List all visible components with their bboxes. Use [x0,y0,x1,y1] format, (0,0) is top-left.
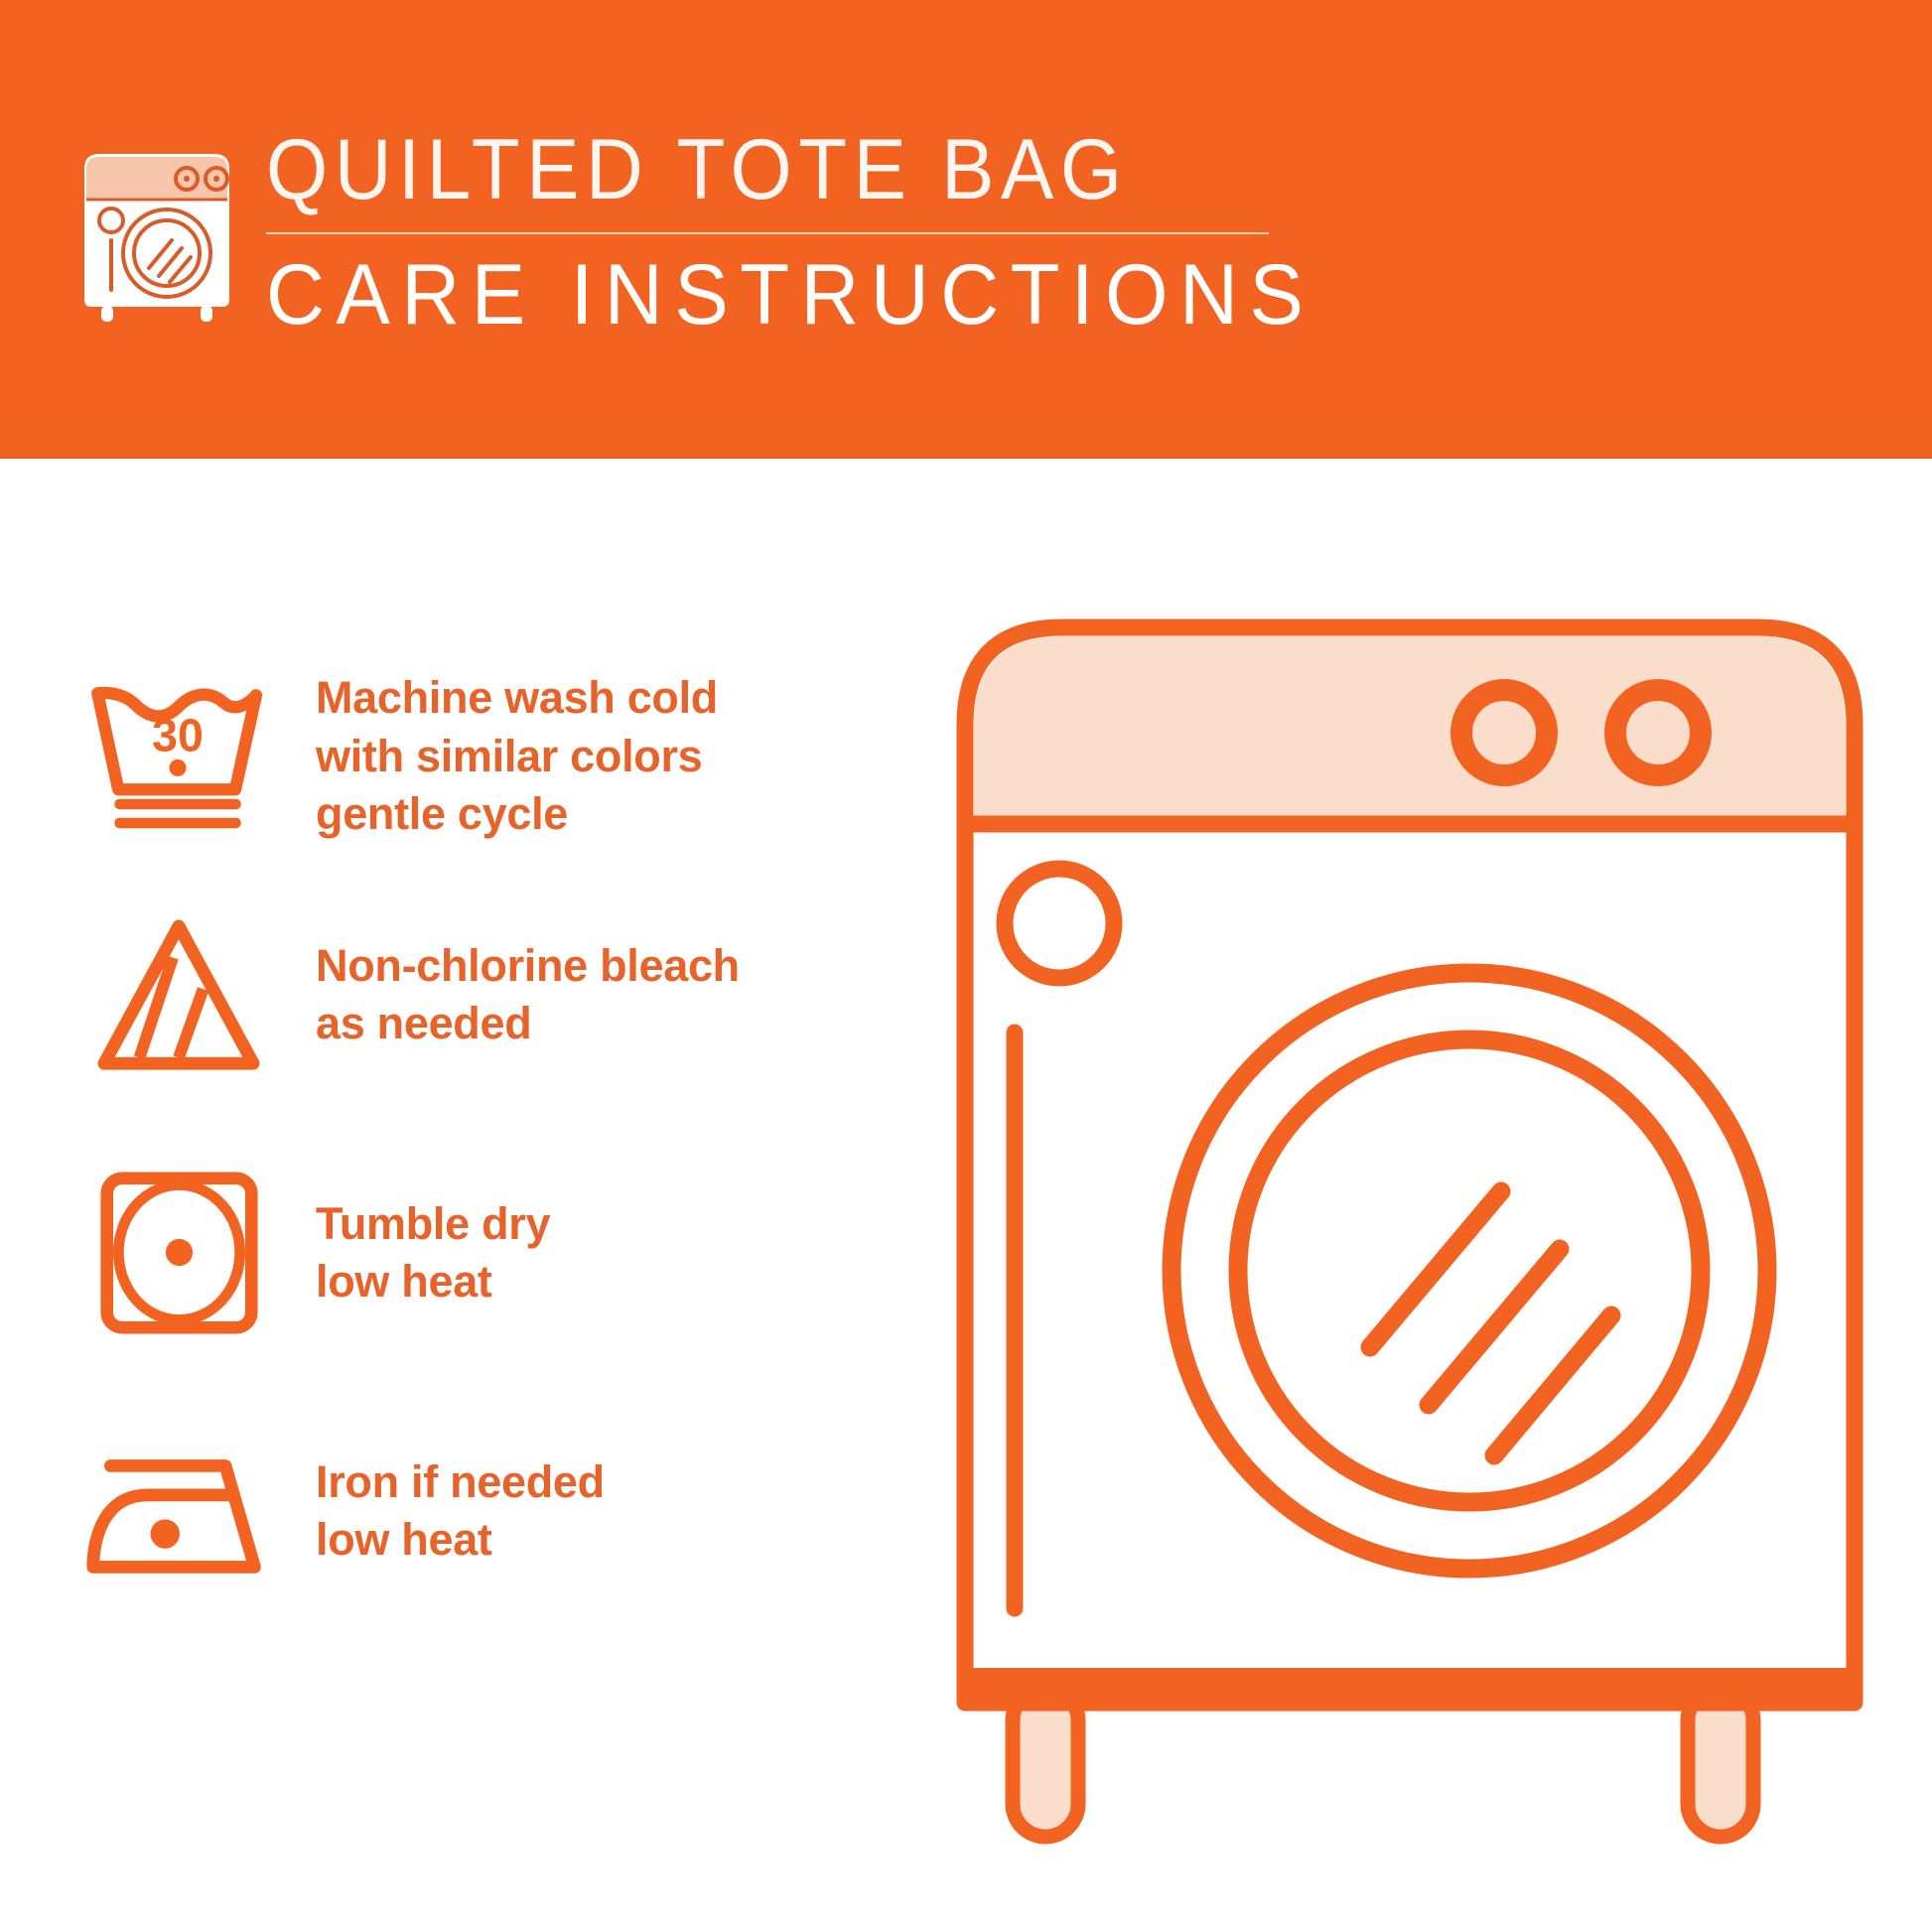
iron-low-heat-icon [79,1412,278,1610]
care-item-bleach: Non-chlorine bleach as needed [79,896,933,1094]
care-item-label: Iron if needed low heat [316,1453,605,1570]
care-item-machine-wash: 30 Machine wash cold with similar colors… [79,657,933,856]
page-title: QUILTED TOTE BAG [266,127,1245,212]
care-item-label: Tumble dry low heat [316,1195,550,1311]
svg-text:30: 30 [152,709,204,760]
wash-tub-30-gentle-icon: 30 [79,657,278,856]
washing-machine-icon [77,141,236,325]
header-content: QUILTED TOTE BAG CARE INSTRUCTIONS [77,127,1318,338]
tumble-dry-low-heat-icon [79,1154,278,1352]
care-instructions-list: 30 Machine wash cold with similar colors… [0,459,943,1932]
header-banner: QUILTED TOTE BAG CARE INSTRUCTIONS [0,0,1932,459]
non-chlorine-bleach-triangle-icon [79,896,278,1094]
care-item-label: Machine wash cold with similar colors ge… [316,669,718,844]
care-item-tumble-dry: Tumble dry low heat [79,1154,933,1352]
header-titles: QUILTED TOTE BAG CARE INSTRUCTIONS [266,127,1318,338]
care-item-iron: Iron if needed low heat [79,1412,933,1610]
page-subtitle: CARE INSTRUCTIONS [266,252,1266,338]
washing-machine-illustration [953,616,1866,1857]
title-divider [266,232,1269,234]
care-item-label: Non-chlorine bleach as needed [316,937,740,1053]
